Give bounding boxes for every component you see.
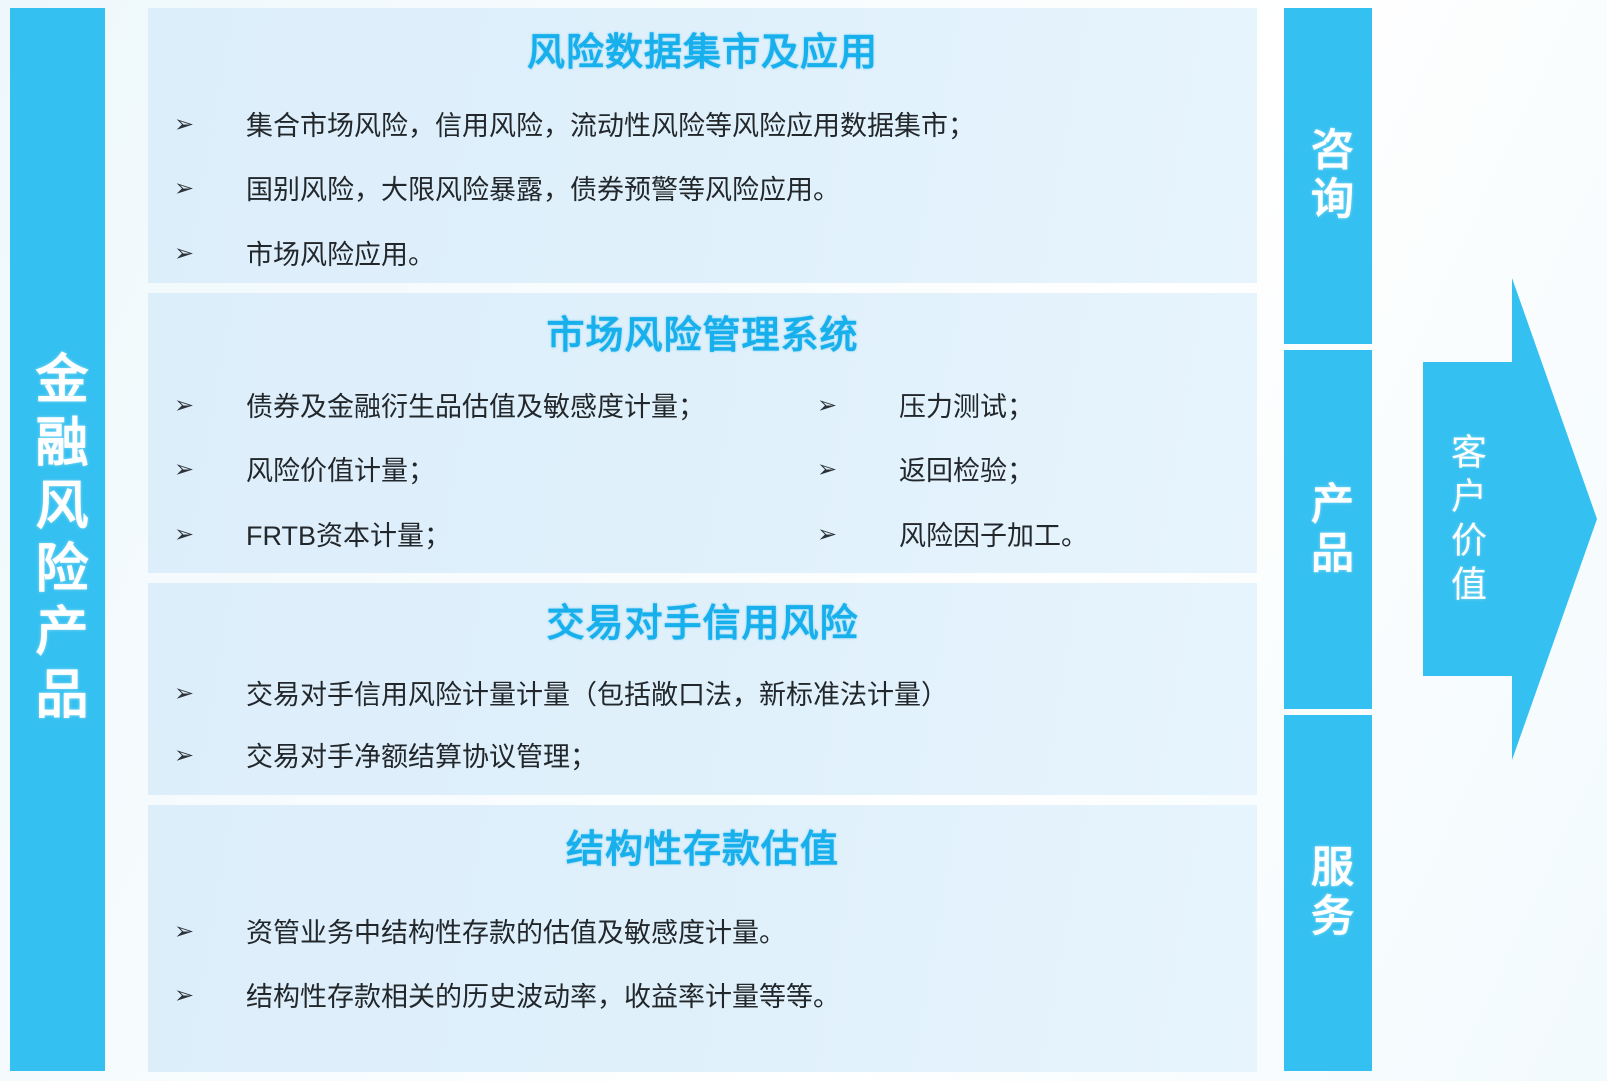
list-item: ➢ 压力测试； bbox=[789, 391, 1243, 423]
list-item-label: 资管业务中结构性存款的估值及敏感度计量。 bbox=[246, 917, 1243, 949]
arrow-bullet-icon: ➢ bbox=[162, 981, 246, 1010]
arrow-bullet-icon: ➢ bbox=[162, 110, 246, 139]
list-item: ➢ 国别风险，大限风险暴露，债券预警等风险应用。 bbox=[162, 174, 1243, 206]
panel-structured-deposit-valuation: 结构性存款估值 ➢ 资管业务中结构性存款的估值及敏感度计量。 ➢ 结构性存款相关… bbox=[148, 805, 1257, 1072]
list-item-label: 交易对手净额结算协议管理； bbox=[246, 741, 1243, 773]
arrow-bullet-icon: ➢ bbox=[162, 239, 246, 268]
stage-label: 产品 bbox=[1307, 481, 1350, 579]
list-item: ➢ 集合市场风险，信用风险，流动性风险等风险应用数据集市； bbox=[162, 110, 1243, 142]
panel-title: 市场风险管理系统 bbox=[162, 317, 1243, 355]
panel-counterparty-credit-risk: 交易对手信用风险 ➢ 交易对手信用风险计量计量（包括敞口法，新标准法计量） ➢ … bbox=[148, 583, 1257, 795]
list-item-label: 国别风险，大限风险暴露，债券预警等风险应用。 bbox=[246, 174, 1243, 206]
stage-label: 咨询 bbox=[1307, 127, 1350, 225]
customer-value-label-wrap: 客户价值 bbox=[1435, 366, 1497, 676]
stage-consulting: 咨询 bbox=[1284, 8, 1372, 344]
arrow-bullet-icon: ➢ bbox=[789, 391, 899, 420]
customer-value-arrow: 客户价值 bbox=[1405, 278, 1607, 760]
stage-label: 服务 bbox=[1307, 844, 1350, 942]
list-item-label: 结构性存款相关的历史波动率，收益率计量等等。 bbox=[246, 981, 1243, 1013]
arrow-bullet-icon: ➢ bbox=[162, 455, 246, 484]
list-item-label: 返回检验； bbox=[899, 455, 1243, 487]
panel-risk-data-mart: 风险数据集市及应用 ➢ 集合市场风险，信用风险，流动性风险等风险应用数据集市； … bbox=[148, 8, 1257, 283]
list-item: ➢ FRTB资本计量； bbox=[162, 520, 789, 552]
arrow-bullet-icon: ➢ bbox=[789, 455, 899, 484]
left-category-bar: 金融风险产品 bbox=[10, 8, 105, 1071]
list-item-label: FRTB资本计量； bbox=[246, 520, 789, 552]
arrow-bullet-icon: ➢ bbox=[789, 520, 899, 549]
list-item-label: 债券及金融衍生品估值及敏感度计量； bbox=[246, 391, 789, 423]
list-item-label: 风险因子加工。 bbox=[899, 520, 1243, 552]
customer-value-label: 客户价值 bbox=[1448, 433, 1484, 609]
list-item: ➢ 交易对手信用风险计量计量（包括敞口法，新标准法计量） bbox=[162, 679, 1243, 711]
list-item: ➢ 交易对手净额结算协议管理； bbox=[162, 741, 1243, 773]
stage-service: 服务 bbox=[1284, 715, 1372, 1071]
list-item: ➢ 资管业务中结构性存款的估值及敏感度计量。 bbox=[162, 917, 1243, 949]
content-panel-stack: 风险数据集市及应用 ➢ 集合市场风险，信用风险，流动性风险等风险应用数据集市； … bbox=[148, 8, 1257, 1072]
stage-column: 咨询 产品 服务 bbox=[1284, 8, 1372, 1071]
arrow-bullet-icon: ➢ bbox=[162, 679, 246, 708]
list-item-label: 压力测试； bbox=[899, 391, 1243, 423]
panel-title: 结构性存款估值 bbox=[162, 831, 1243, 869]
panel-title: 风险数据集市及应用 bbox=[162, 34, 1243, 72]
list-item: ➢ 债券及金融衍生品估值及敏感度计量； bbox=[162, 391, 789, 423]
panel-market-risk-system: 市场风险管理系统 ➢ 债券及金融衍生品估值及敏感度计量； ➢ 压力测试； ➢ 风… bbox=[148, 293, 1257, 573]
bullet-list: ➢ 债券及金融衍生品估值及敏感度计量； ➢ 压力测试； ➢ 风险价值计量； ➢ … bbox=[162, 391, 1243, 573]
bullet-list: ➢ 交易对手信用风险计量计量（包括敞口法，新标准法计量） ➢ 交易对手净额结算协… bbox=[162, 679, 1243, 774]
list-item-label: 交易对手信用风险计量计量（包括敞口法，新标准法计量） bbox=[246, 679, 1243, 711]
list-item-label: 市场风险应用。 bbox=[246, 239, 1243, 271]
bullet-list: ➢ 资管业务中结构性存款的估值及敏感度计量。 ➢ 结构性存款相关的历史波动率，收… bbox=[162, 917, 1243, 1014]
arrow-bullet-icon: ➢ bbox=[162, 174, 246, 203]
panel-title: 交易对手信用风险 bbox=[162, 605, 1243, 643]
bullet-list: ➢ 集合市场风险，信用风险，流动性风险等风险应用数据集市； ➢ 国别风险，大限风… bbox=[162, 110, 1243, 271]
list-item: ➢ 市场风险应用。 bbox=[162, 239, 1243, 271]
list-item-label: 集合市场风险，信用风险，流动性风险等风险应用数据集市； bbox=[246, 110, 1243, 142]
left-category-label: 金融风险产品 bbox=[31, 351, 84, 729]
list-item: ➢ 返回检验； bbox=[789, 455, 1243, 487]
stage-product: 产品 bbox=[1284, 350, 1372, 709]
arrow-bullet-icon: ➢ bbox=[162, 391, 246, 420]
arrow-bullet-icon: ➢ bbox=[162, 917, 246, 946]
list-item: ➢ 风险因子加工。 bbox=[789, 520, 1243, 552]
list-item: ➢ 结构性存款相关的历史波动率，收益率计量等等。 bbox=[162, 981, 1243, 1013]
list-item: ➢ 风险价值计量； bbox=[162, 455, 789, 487]
arrow-bullet-icon: ➢ bbox=[162, 520, 246, 549]
arrow-bullet-icon: ➢ bbox=[162, 741, 246, 770]
list-item-label: 风险价值计量； bbox=[246, 455, 789, 487]
